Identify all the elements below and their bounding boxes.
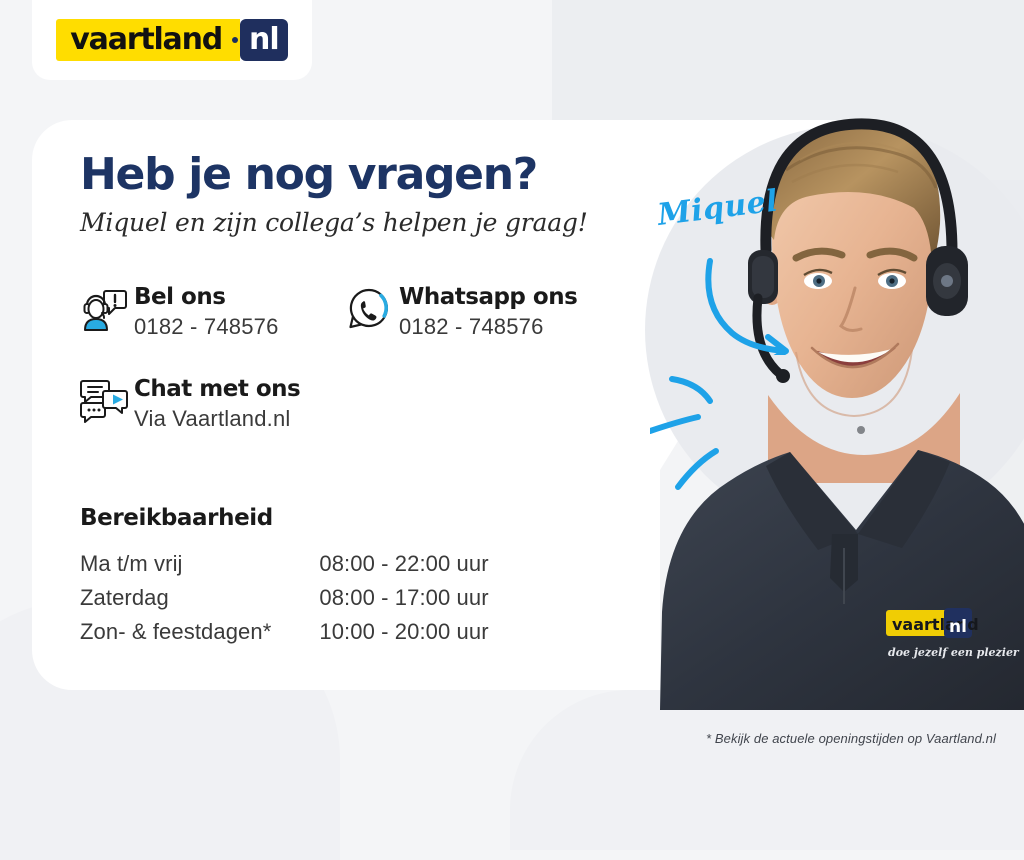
footnote-text: * Bekijk de actuele openingstijden op Va… <box>706 731 996 746</box>
logo-tld-badge: nl <box>240 19 288 61</box>
contact-title: Bel ons <box>134 284 279 310</box>
contact-value: 0182 - 748576 <box>134 314 279 340</box>
table-row: Zaterdag 08:00 - 17:00 uur <box>80 581 489 615</box>
availability-section: Bereikbaarheid Ma t/m vrij 08:00 - 22:00… <box>80 505 489 649</box>
whatsapp-phone-bubble-icon <box>345 283 399 333</box>
contact-value: Via Vaartland.nl <box>134 406 300 432</box>
contact-option-chat[interactable]: Chat met ons Via Vaartland.nl <box>80 375 300 432</box>
availability-time: 08:00 - 22:00 uur <box>319 547 488 581</box>
svg-text:doe jezelf een plezier: doe jezelf een plezier <box>888 646 1020 659</box>
availability-title: Bereikbaarheid <box>80 505 489 531</box>
contact-value: 0182 - 748576 <box>399 314 577 340</box>
motion-strokes-icon <box>650 365 760 500</box>
page-subtitle: Miquel en zijn collega’s helpen je graag… <box>80 208 588 237</box>
headset-right-cup <box>926 246 968 316</box>
contact-option-whatsapp[interactable]: Whatsapp ons 0182 - 748576 <box>345 283 577 340</box>
availability-time: 10:00 - 20:00 uur <box>319 615 488 649</box>
page-title: Heb je nog vragen? <box>80 152 588 198</box>
contact-title: Whatsapp ons <box>399 284 577 310</box>
svg-text:nl: nl <box>949 617 967 637</box>
logo-wordmark: vaartland <box>56 19 232 61</box>
contact-option-call[interactable]: Bel ons 0182 - 748576 <box>80 283 279 340</box>
availability-day: Zon- & feestdagen* <box>80 615 319 649</box>
availability-day: Ma t/m vrij <box>80 547 319 581</box>
availability-table: Ma t/m vrij 08:00 - 22:00 uur Zaterdag 0… <box>80 547 489 649</box>
availability-day: Zaterdag <box>80 581 319 615</box>
brand-logo[interactable]: vaartland nl <box>32 0 312 80</box>
agent-photo: vaartland nl doe jezelf een plezier <box>600 0 1024 710</box>
availability-time: 08:00 - 17:00 uur <box>319 581 488 615</box>
headset-person-icon <box>80 283 134 333</box>
curved-arrow-icon <box>700 255 810 360</box>
background-shape-bottom <box>510 690 1024 850</box>
table-row: Zon- & feestdagen* 10:00 - 20:00 uur <box>80 615 489 649</box>
headline-block: Heb je nog vragen? Miquel en zijn colleg… <box>80 152 588 237</box>
dot-separator-icon <box>232 19 240 61</box>
contact-title: Chat met ons <box>134 376 300 402</box>
chat-bubbles-play-icon <box>80 375 134 423</box>
table-row: Ma t/m vrij 08:00 - 22:00 uur <box>80 547 489 581</box>
